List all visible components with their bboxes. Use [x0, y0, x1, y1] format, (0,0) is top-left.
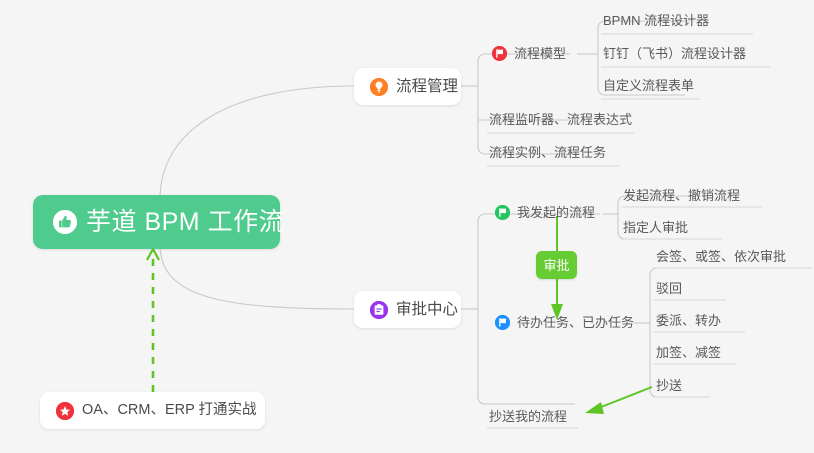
leaf-countersign[interactable]: 会签、或签、依次审批 — [656, 250, 786, 263]
leaf-delegate-transfer[interactable]: 委派、转办 — [656, 314, 721, 327]
flag-icon — [492, 46, 507, 61]
flag-icon — [495, 315, 510, 330]
node-label: 待办任务、已办任务 — [517, 316, 634, 329]
leaf-cc-my-process[interactable]: 抄送我的流程 — [489, 410, 567, 423]
branch-label: 流程管理 — [396, 79, 458, 95]
leaf-cc[interactable]: 抄送 — [656, 379, 682, 392]
leaf-label: 委派、转办 — [656, 314, 721, 327]
flag-icon — [495, 205, 510, 220]
node-my-started-process[interactable]: 我发起的流程 — [495, 205, 595, 220]
leaf-assignee-approval[interactable]: 指定人审批 — [623, 221, 688, 234]
leaf-label: 流程监听器、流程表达式 — [489, 113, 632, 126]
leaf-label: 发起流程、撤销流程 — [623, 189, 740, 202]
leaf-bpmn-designer[interactable]: BPMN 流程设计器 — [603, 14, 709, 27]
leaf-label: 加签、减签 — [656, 346, 721, 359]
approval-tag-label: 审批 — [543, 259, 569, 272]
leaf-custom-form[interactable]: 自定义流程表单 — [603, 79, 694, 92]
leaf-label: BPMN 流程设计器 — [603, 14, 709, 27]
approval-tag[interactable]: 审批 — [536, 251, 577, 279]
node-label: 我发起的流程 — [517, 206, 595, 219]
root-label: 芋道 BPM 工作流 — [86, 210, 284, 235]
clipboard-icon — [370, 301, 388, 319]
branch-label: 审批中心 — [396, 302, 458, 318]
mindmap-canvas: 芋道 BPM 工作流 流程管理 流程模型 BPMN 流程设计器 钉钉（飞书 — [0, 0, 814, 453]
leaf-label: 抄送 — [656, 379, 682, 392]
leaf-process-listener[interactable]: 流程监听器、流程表达式 — [489, 113, 632, 126]
leaf-label: 钉钉（飞书）流程设计器 — [603, 47, 746, 60]
bottom-node-integration[interactable]: OA、CRM、ERP 打通实战 — [40, 392, 265, 429]
leaf-label: 流程实例、流程任务 — [489, 146, 606, 159]
node-label: 流程模型 — [514, 47, 566, 60]
lightbulb-icon — [370, 78, 388, 96]
leaf-dingtalk-designer[interactable]: 钉钉（飞书）流程设计器 — [603, 47, 746, 60]
leaf-label: 自定义流程表单 — [603, 79, 694, 92]
node-todo-done-tasks[interactable]: 待办任务、已办任务 — [495, 315, 634, 330]
node-process-model[interactable]: 流程模型 — [492, 46, 566, 61]
leaf-label: 驳回 — [656, 282, 682, 295]
branch-approval-center[interactable]: 审批中心 — [354, 291, 461, 328]
leaf-start-cancel-process[interactable]: 发起流程、撤销流程 — [623, 189, 740, 202]
leaf-label: 抄送我的流程 — [489, 410, 567, 423]
bottom-node-label: OA、CRM、ERP 打通实战 — [82, 403, 257, 418]
thumbs-up-icon — [53, 210, 77, 234]
leaf-process-instance[interactable]: 流程实例、流程任务 — [489, 146, 606, 159]
star-icon — [56, 402, 74, 420]
leaf-reject[interactable]: 驳回 — [656, 282, 682, 295]
leaf-label: 指定人审批 — [623, 221, 688, 234]
root-node[interactable]: 芋道 BPM 工作流 — [33, 195, 280, 249]
leaf-label: 会签、或签、依次审批 — [656, 250, 786, 263]
leaf-add-remove-sign[interactable]: 加签、减签 — [656, 346, 721, 359]
branch-process-management[interactable]: 流程管理 — [354, 68, 461, 105]
